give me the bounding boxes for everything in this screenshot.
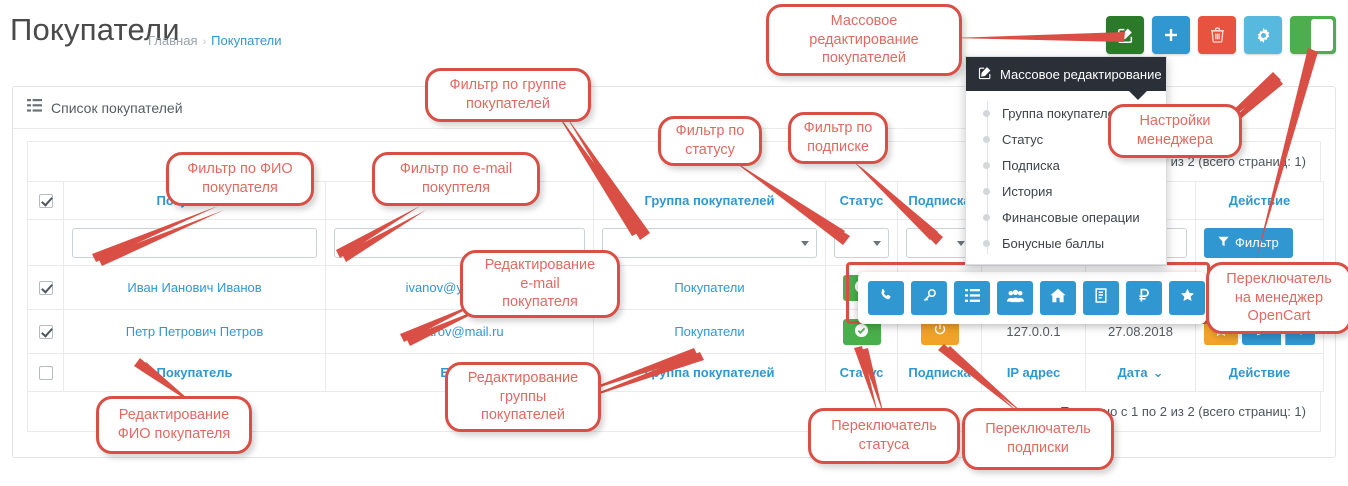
- callout-edit-email: Редактирование e-mail покупателя: [460, 250, 620, 318]
- callout-filter-name: Фильтр по ФИО покупателя: [166, 152, 314, 206]
- callout-subscribe-switch: Переключатель подписки: [962, 408, 1114, 470]
- screenshot-root: Покупатели Главная›Покупатели: [0, 0, 1348, 486]
- callout-edit-group: Редактирование группы покупателей: [445, 362, 601, 432]
- callout-filter-group: Фильтр по группе покупателей: [425, 68, 591, 122]
- callout-edit-name: Редактирование ФИО покупателя: [96, 396, 252, 454]
- callout-mass-edit: Массовое редактирование покупателей: [766, 4, 962, 76]
- callout-filter-subscribe: Фильтр по подписке: [788, 112, 888, 164]
- callout-manager-settings: Настройки менеджера: [1108, 104, 1242, 158]
- callout-filter-status: Фильтр по статусу: [658, 116, 762, 166]
- callout-opencart-switch: Переключатель на менеджер OpenCart: [1206, 262, 1348, 334]
- callout-filter-email: Фильтр по e-mail покуптеля: [372, 152, 540, 206]
- callout-status-switch: Переключатель статуса: [808, 408, 960, 464]
